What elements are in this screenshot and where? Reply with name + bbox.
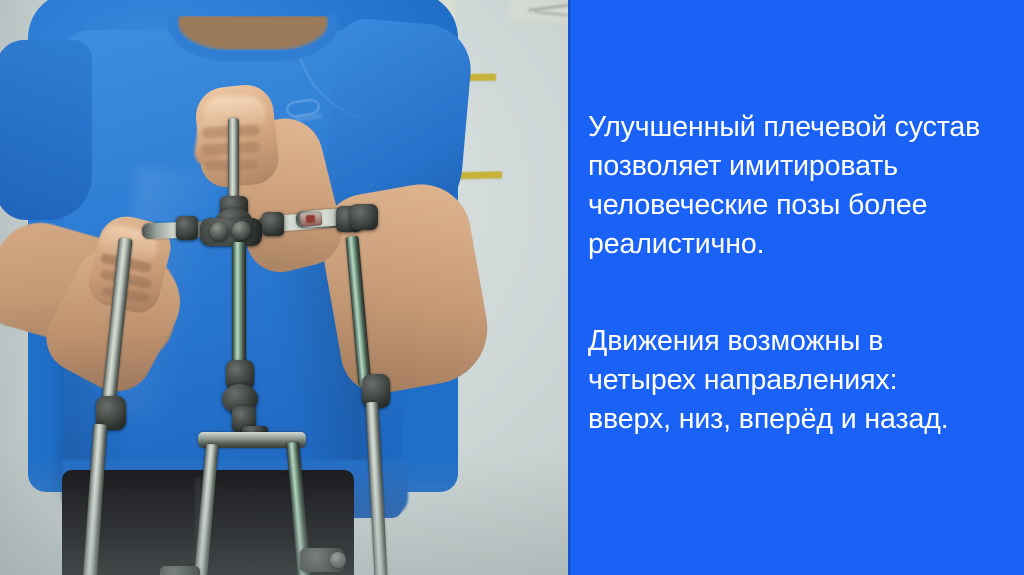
mechanism-clamp-left xyxy=(176,216,198,240)
photo-panel xyxy=(0,0,568,575)
caption-1-line-1: Улучшенный плечевой сустав xyxy=(588,108,1004,147)
mechanism-hub-nut-right xyxy=(232,221,251,240)
caption-block-2: Движения возможны в четырех направлениях… xyxy=(588,322,1004,439)
mechanism-band-marker xyxy=(306,215,316,224)
slide-root: Улучшенный плечевой сустав позволяет ими… xyxy=(0,0,1024,575)
caption-2-line-2: четырех направлениях: xyxy=(588,361,1004,400)
person-sleeve-left xyxy=(0,40,92,220)
caption-1-line-3: человеческие позы более xyxy=(588,186,1004,225)
wall-shadow-bottom xyxy=(0,455,568,575)
caption-2-line-1: Движения возможны в xyxy=(588,322,1004,361)
panel-left-edge xyxy=(568,0,571,575)
mechanism-clamp-far-right xyxy=(350,204,378,230)
mechanism-hub-nut-left xyxy=(210,222,229,241)
mechanism-clamp-right xyxy=(262,212,284,236)
text-panel: Улучшенный плечевой сустав позволяет ими… xyxy=(568,0,1024,575)
caption-block-1: Улучшенный плечевой сустав позволяет ими… xyxy=(588,108,1004,264)
caption-2-line-3: вверх, низ, вперёд и назад. xyxy=(588,400,1004,439)
caption-1-line-2: позволяет имитировать xyxy=(588,147,1004,186)
caption-1-line-4: реалистично. xyxy=(588,225,1004,264)
